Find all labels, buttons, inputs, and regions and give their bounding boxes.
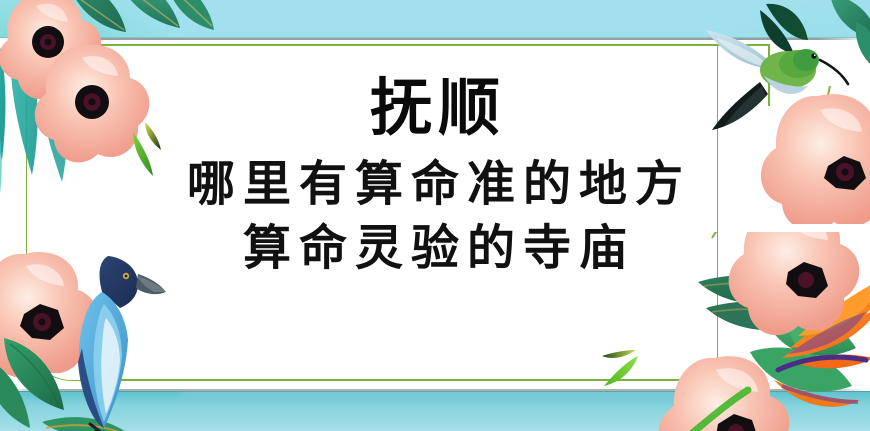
- decorative-green-frame: [26, 44, 718, 381]
- promo-banner: 抚顺 哪里有算命准的地方 算命灵验的寺庙: [0, 0, 870, 431]
- decorative-green-frame-bottom: [80, 379, 690, 381]
- card-bottom-rule: [0, 389, 870, 391]
- card-top-rule: [0, 38, 870, 40]
- decorative-green-frame-right: [768, 44, 770, 106]
- decorative-green-frame-top: [80, 44, 770, 46]
